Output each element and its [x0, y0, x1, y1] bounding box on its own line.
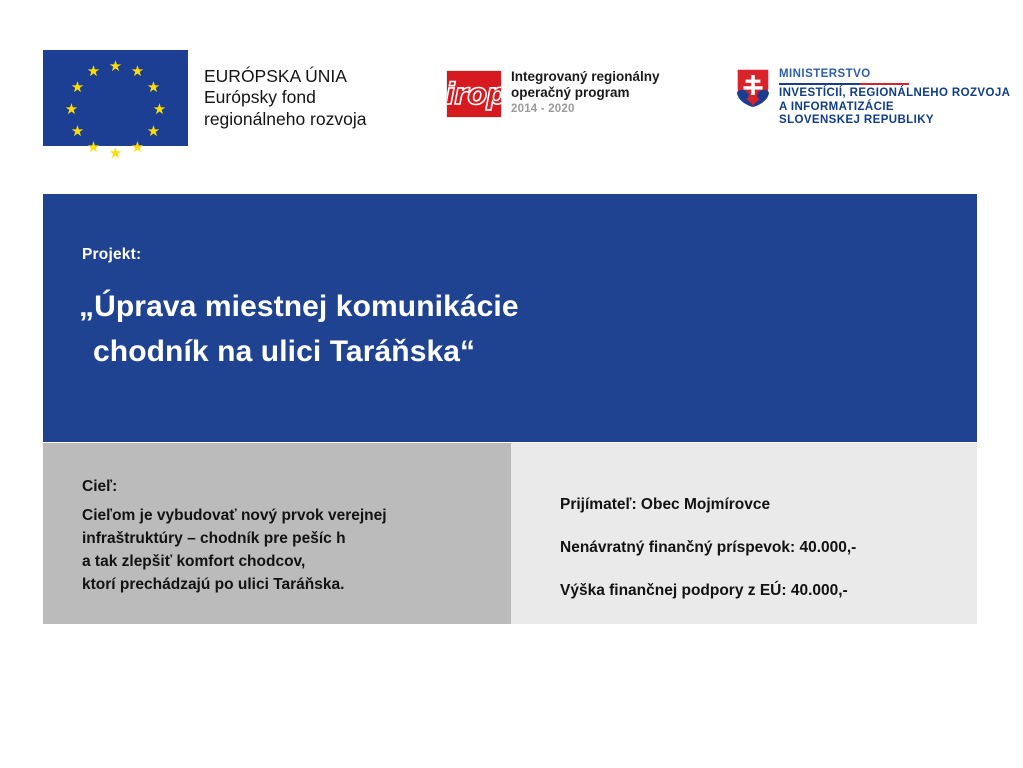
beneficiary-line: Prijímateľ: Obec Mojmírovce [560, 496, 856, 514]
ministry-top-line: MINISTERSTVO [779, 68, 1010, 81]
irop-wordmark: irop [446, 79, 502, 109]
ministry-line-1: INVESTÍCIÍ, REGIONÁLNEHO ROZVOJA [779, 87, 1010, 101]
info-content: Prijímateľ: Obec Mojmírovce Nenávratný f… [560, 496, 856, 600]
eu-line-3: regionálneho rozvoja [204, 109, 366, 131]
irop-line-1: Integrovaný regionálny [511, 69, 660, 85]
goal-content: Cieľ: Cieľom je vybudovať nový prvok ver… [82, 475, 387, 596]
goal-heading: Cieľ: [82, 475, 387, 498]
project-title-line-2: chodník na ulici Taráňska“ [79, 329, 519, 374]
ministry-rule-divider [779, 83, 909, 85]
goal-line-4: ktorí prechádzajú po ulici Taráňska. [82, 573, 387, 596]
info-panel: Prijímateľ: Obec Mojmírovce Nenávratný f… [511, 443, 977, 624]
eu-logo: ★ ★ ★ ★ ★ ★ ★ ★ ★ ★ ★ ★ EURÓPSKA ÚNIA Eu… [43, 50, 366, 146]
slovak-coat-of-arms-icon [736, 68, 770, 108]
eu-flag-icon: ★ ★ ★ ★ ★ ★ ★ ★ ★ ★ ★ ★ [43, 50, 188, 146]
irop-line-2: operačný program [511, 85, 660, 101]
project-label: Projekt: [82, 246, 141, 264]
logo-header: ★ ★ ★ ★ ★ ★ ★ ★ ★ ★ ★ ★ EURÓPSKA ÚNIA Eu… [0, 0, 1023, 175]
ministry-logo-text: MINISTERSTVO INVESTÍCIÍ, REGIONÁLNEHO RO… [779, 68, 1010, 128]
eu-support-line: Výška finančnej podpory z EÚ: 40.000,- [560, 582, 856, 600]
goal-line-2: infraštruktúry – chodník pre pešíc h [82, 527, 387, 550]
irop-period: 2014 - 2020 [511, 102, 660, 116]
irop-logo-text: Integrovaný regionálny operačný program … [511, 69, 660, 116]
irop-mark-icon: irop [446, 70, 502, 118]
page-title: „Úprava miestnej komunikácie chodník na … [79, 284, 519, 374]
grant-amount-line: Nenávratný finančný príspevok: 40.000,- [560, 539, 856, 557]
goal-body: Cieľom je vybudovať nový prvok verejnej … [82, 504, 387, 596]
eu-logo-text: EURÓPSKA ÚNIA Európsky fond regionálneho… [204, 66, 366, 131]
goal-line-3: a tak zlepšiť komfort chodcov, [82, 550, 387, 573]
project-title-banner: Projekt: „Úprava miestnej komunikácie ch… [43, 194, 977, 442]
irop-logo: irop Integrovaný regionálny operačný pro… [446, 70, 660, 118]
ministry-logo: MINISTERSTVO INVESTÍCIÍ, REGIONÁLNEHO RO… [736, 68, 1010, 128]
ministry-line-3: SLOVENSKEJ REPUBLIKY [779, 114, 1010, 128]
goal-panel: Cieľ: Cieľom je vybudovať nový prvok ver… [43, 443, 511, 624]
project-title-line-1: „Úprava miestnej komunikácie [79, 290, 519, 323]
ministry-line-2: A INFORMATIZÁCIE [779, 101, 1010, 115]
goal-line-1: Cieľom je vybudovať nový prvok verejnej [82, 504, 387, 527]
eu-line-2: Európsky fond [204, 87, 366, 109]
eu-line-1: EURÓPSKA ÚNIA [204, 66, 366, 88]
